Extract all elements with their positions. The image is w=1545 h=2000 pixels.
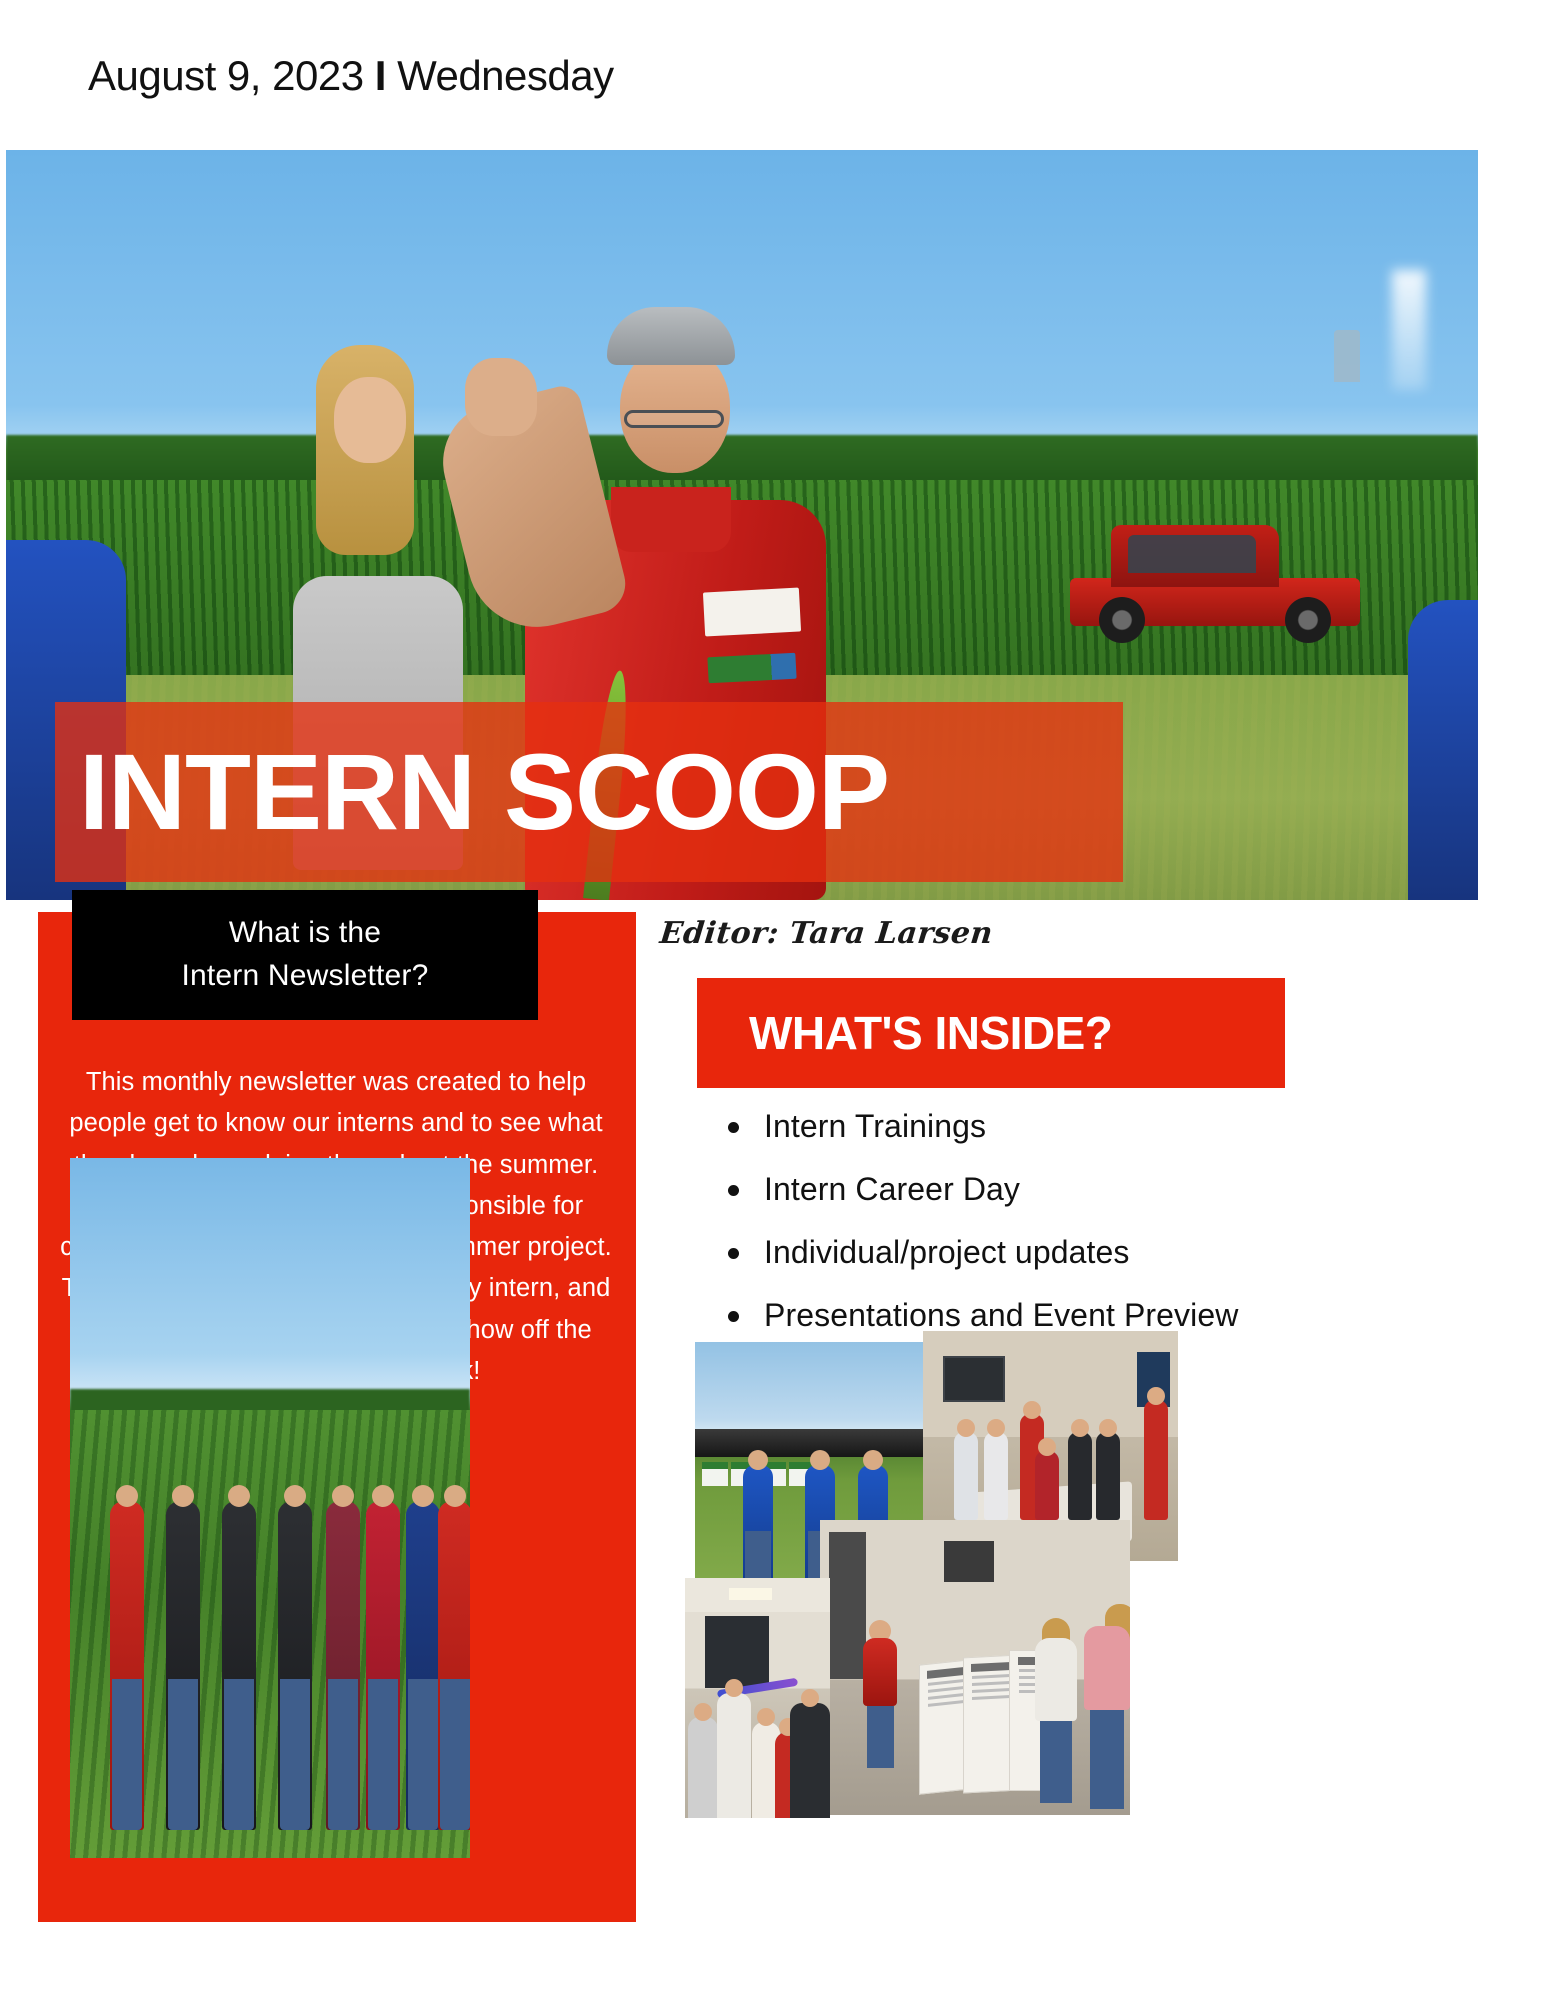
collage-photo-feed-mill-presentation bbox=[820, 1520, 1130, 1815]
photo-collage bbox=[680, 1320, 1545, 2000]
hero-water-tower bbox=[1334, 330, 1360, 382]
masthead-title: INTERN SCOOP bbox=[79, 738, 889, 846]
crystal-valley-logo bbox=[707, 653, 796, 684]
collage-photo-team-building-activity bbox=[685, 1578, 830, 1818]
hero-name-badge bbox=[703, 588, 801, 637]
newsletter-page: August 9, 2023 I Wednesday INTE bbox=[0, 0, 1545, 2000]
header-weekday: Wednesday bbox=[397, 52, 614, 99]
list-item: Individual/project updates bbox=[712, 1234, 1452, 1271]
list-item: Intern Trainings bbox=[712, 1108, 1452, 1145]
page-date-header: August 9, 2023 I Wednesday bbox=[88, 52, 614, 100]
header-separator: I bbox=[375, 52, 386, 99]
editor-credit: Editor: Tara Larsen bbox=[658, 916, 994, 951]
about-newsletter-heading-box: What is the Intern Newsletter? bbox=[72, 890, 538, 1020]
header-date: August 9, 2023 bbox=[88, 52, 364, 99]
whats-inside-heading: WHAT'S INSIDE? bbox=[749, 1006, 1112, 1060]
hero-person-blue-right bbox=[1408, 600, 1478, 900]
hero-red-pickup-truck bbox=[1070, 525, 1360, 645]
list-item: Intern Career Day bbox=[712, 1171, 1452, 1208]
masthead-banner: INTERN SCOOP bbox=[55, 702, 1123, 882]
field-scouting-photo bbox=[70, 1158, 470, 1858]
hero-smokestack-plume bbox=[1392, 270, 1426, 390]
whats-inside-banner: WHAT'S INSIDE? bbox=[697, 978, 1285, 1088]
about-heading-line-2: Intern Newsletter? bbox=[181, 955, 428, 998]
about-heading-line-1: What is the bbox=[229, 912, 381, 955]
